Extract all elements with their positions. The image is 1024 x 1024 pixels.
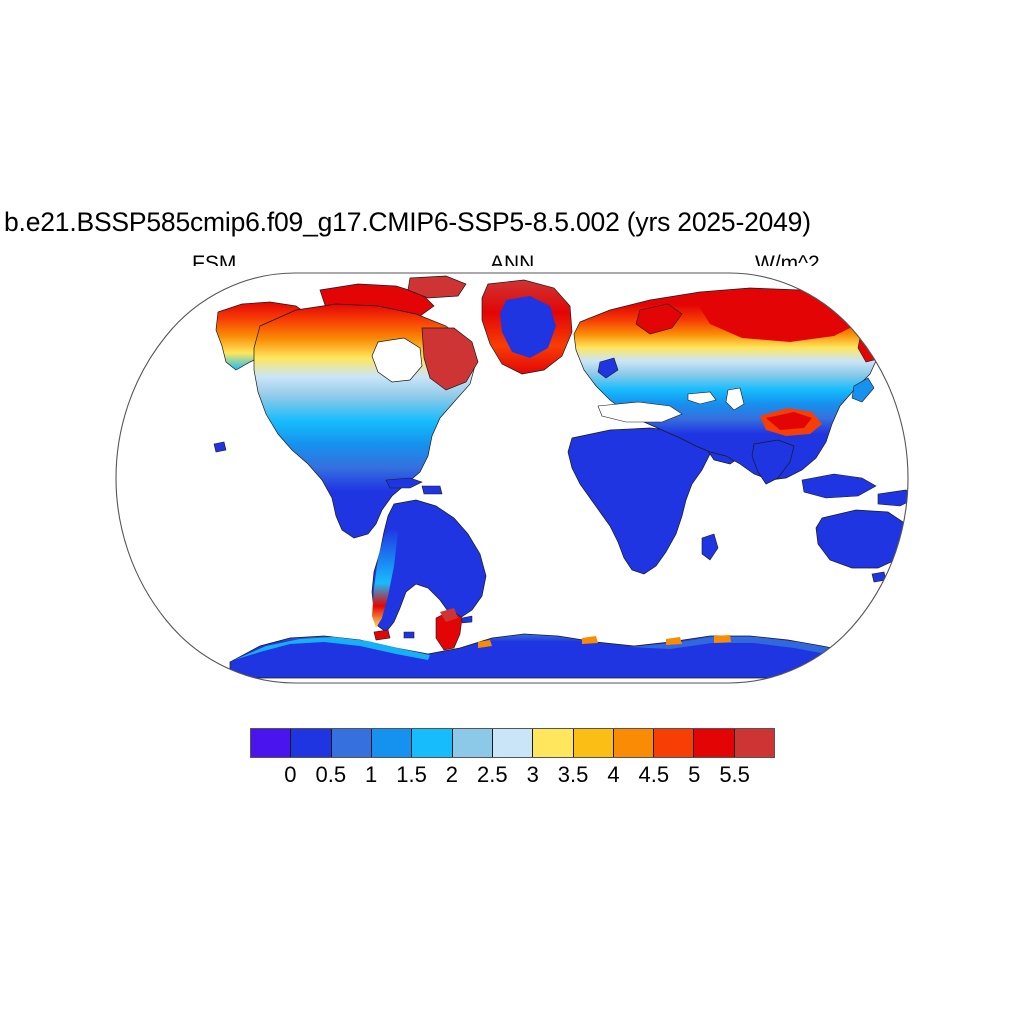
region-tierra-del-fuego [374, 630, 390, 640]
page-title: b.e21.BSSP585cmip6.f09_g17.CMIP6-SSP5-8.… [4, 206, 1020, 238]
colorbar-cell [654, 729, 694, 757]
colorbar-cell [493, 729, 533, 757]
colorbar-tick-label: 0 [284, 762, 296, 788]
colorbar-strip [250, 728, 775, 758]
colorbar-cell [453, 729, 493, 757]
world-map [110, 266, 914, 690]
colorbar-cell [694, 729, 734, 757]
colorbar-tick-label: 4 [607, 762, 619, 788]
colorbar-tick-label: 3.5 [558, 762, 589, 788]
colorbar-tick-label: 5.5 [719, 762, 750, 788]
colorbar-tick-label: 3 [527, 762, 539, 788]
map-panel [110, 266, 914, 690]
colorbar-tick-labels: 00.511.522.533.544.555.5 [250, 762, 775, 792]
region-hawaii [214, 442, 226, 452]
colorbar-cell [614, 729, 654, 757]
colorbar-cell [735, 729, 774, 757]
colorbar-tick-label: 5 [688, 762, 700, 788]
colorbar-tick-label: 2.5 [477, 762, 508, 788]
colorbar-tick-label: 1 [365, 762, 377, 788]
colorbar-cell [251, 729, 291, 757]
colorbar-cell [412, 729, 452, 757]
colorbar: 00.511.522.533.544.555.5 [250, 728, 775, 798]
colorbar-cell [574, 729, 614, 757]
colorbar-cell [291, 729, 331, 757]
colorbar-tick-label: 1.5 [396, 762, 427, 788]
colorbar-tick-label: 4.5 [639, 762, 670, 788]
colorbar-cell [372, 729, 412, 757]
colorbar-cell [533, 729, 573, 757]
region-hispaniola [422, 486, 442, 494]
climate-map-figure: b.e21.BSSP585cmip6.f09_g17.CMIP6-SSP5-8.… [0, 0, 1024, 1024]
colorbar-tick-label: 0.5 [315, 762, 346, 788]
colorbar-tick-label: 2 [446, 762, 458, 788]
colorbar-cell [332, 729, 372, 757]
region-falklands [404, 632, 414, 638]
